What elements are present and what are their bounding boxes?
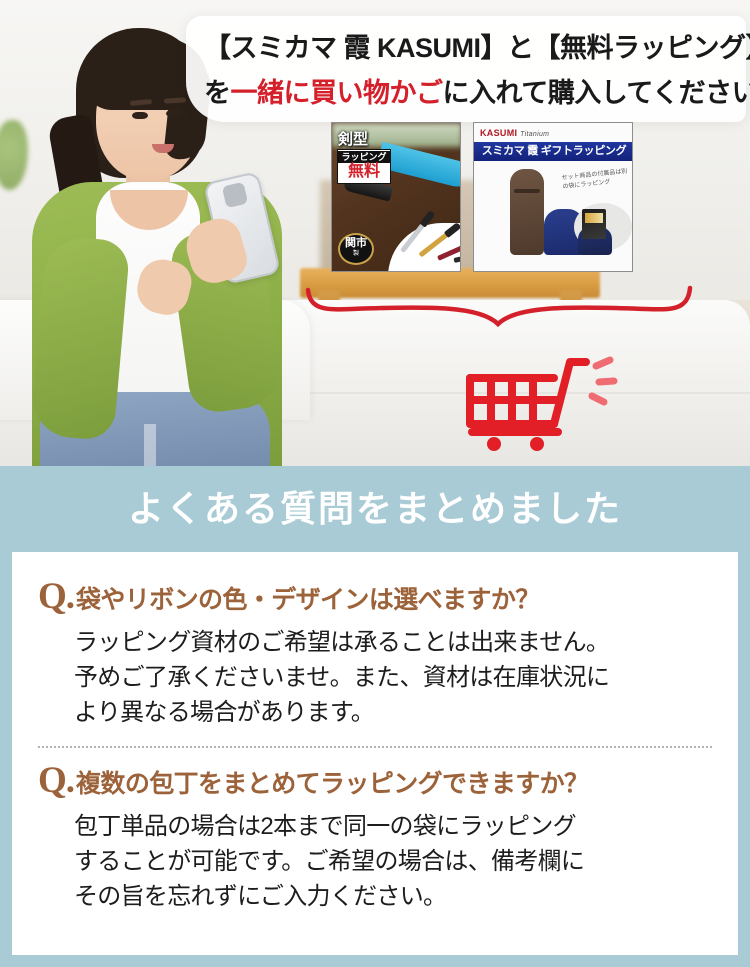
faq-divider (38, 746, 712, 748)
left-arm (29, 235, 130, 442)
kasumi-brand-sub: Titanium (520, 131, 549, 138)
accessory-package (582, 209, 606, 239)
seal-line-1: 関市 (340, 235, 372, 251)
eye-right (166, 110, 182, 117)
free-wrapping-badge: ラッピング 無料 (337, 149, 391, 184)
eye-left (132, 112, 148, 119)
badge-line-2: 無料 (338, 163, 390, 181)
gift-wrapping-thumbnail[interactable]: KASUMI Titanium スミカマ 霞 ギフトラッピング セット商品の付属… (473, 122, 633, 272)
faq-section: よくある質問をまとめました Q. 袋やリボンの色・デザインは選べますか？ ラッピ… (0, 466, 750, 967)
wrapping-ribbon-banner: スミカマ 霞 ギフトラッピング (474, 142, 633, 161)
faq-header-title: よくある質問をまとめました (12, 466, 738, 552)
brown-gift-bag (510, 169, 544, 255)
faq-question-row-1: Q. 袋やリボンの色・デザインは選べますか？ (38, 578, 712, 615)
faq-panel: Q. 袋やリボンの色・デザインは選べますか？ ラッピング資材のご希望は承ることは… (12, 552, 738, 955)
faq-answer-2: 包丁単品の場合は2本まで同一の袋にラッピング することが可能です。ご希望の場合は… (74, 809, 712, 914)
answer-2-line-2: することが可能です。ご希望の場合は、備考欄に (74, 844, 712, 879)
jeans-seam (144, 424, 156, 466)
answer-1-line-2: 予めご了承くださいませ。また、資材は在庫状況に (74, 660, 712, 695)
knife-product-thumbnail[interactable]: 剣型 ラッピング 無料 関市 製 (331, 122, 461, 272)
speech-bubble: 【スミカマ 霞 KASUMI】と【無料ラッピング】 を一緒に買い物かごに入れて購… (186, 16, 746, 122)
faq-answer-1: ラッピング資材のご希望は承ることは出来ません。 予めご了承くださいませ。また、資… (74, 625, 712, 730)
answer-2-line-1: 包丁単品の場合は2本まで同一の袋にラッピング (74, 809, 712, 844)
faq-question-1: 袋やリボンの色・デザインは選べますか？ (76, 587, 540, 615)
question-mark-icon: Q. (38, 578, 74, 615)
shopping-cart-icon (458, 352, 618, 452)
answer-2-line-3: その旨を忘れずにご入力ください。 (74, 879, 712, 914)
faq-question-row-2: Q. 複数の包丁をまとめてラッピングできますか？ (38, 762, 712, 799)
hero-photo-banner: 【スミカマ 霞 KASUMI】と【無料ラッピング】 を一緒に買い物かごに入れて購… (0, 0, 750, 466)
faq-item-2: Q. 複数の包丁をまとめてラッピングできますか？ 包丁単品の場合は2本まで同一の… (38, 762, 712, 914)
bubble-line2-prefix: を (204, 78, 231, 108)
seal-line-2: 製 (340, 251, 372, 258)
knife-type-label: 剣型 (338, 128, 368, 149)
seki-city-seal: 関市 製 (338, 233, 374, 265)
answer-1-line-3: より異なる場合があります。 (74, 695, 712, 730)
faq-item-1: Q. 袋やリボンの色・デザインは選べますか？ ラッピング資材のご希望は承ることは… (38, 578, 712, 730)
kasumi-logo: KASUMI Titanium (480, 128, 549, 138)
answer-1-line-1: ラッピング資材のご希望は承ることは出来ません。 (74, 625, 712, 660)
badge-line-1: ラッピング (338, 151, 390, 163)
bubble-line-2: を一緒に買い物かごに入れて購入してください。 (204, 71, 738, 116)
question-mark-icon: Q. (38, 762, 74, 799)
bubble-line2-suffix: に入れて購入してください。 (443, 78, 750, 108)
red-brace-arrow (300, 276, 700, 336)
faq-question-2: 複数の包丁をまとめてラッピングできますか？ (76, 771, 588, 799)
bubble-line2-highlight: 一緒に買い物かご (231, 78, 443, 108)
bubble-line-1: 【スミカマ 霞 KASUMI】と【無料ラッピング】 (204, 26, 738, 71)
kasumi-brand: KASUMI (480, 128, 517, 138)
